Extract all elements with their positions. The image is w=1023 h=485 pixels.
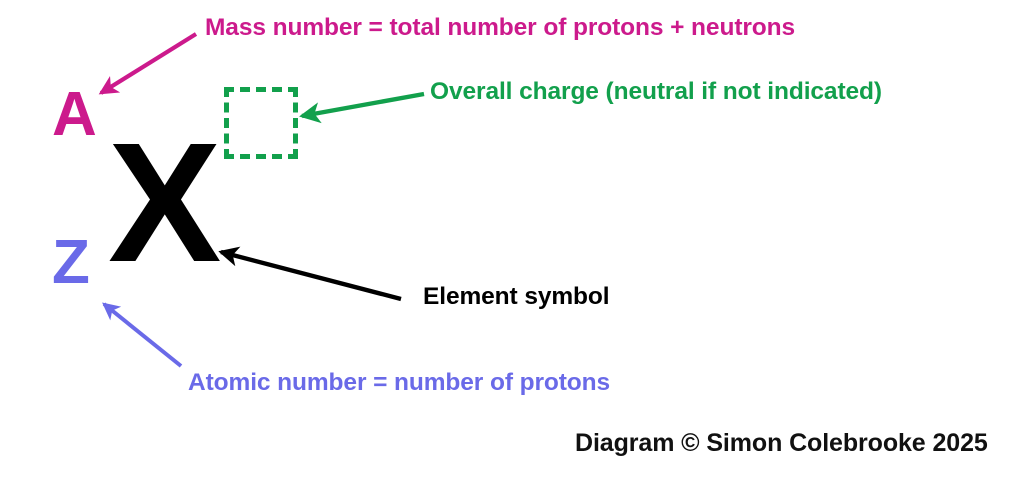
atomic-number-arrow (104, 304, 181, 366)
charge-placeholder-box (224, 87, 298, 159)
diagram-canvas: A Z X Mass number = total number of prot… (0, 0, 1023, 485)
atomic-number-label: Atomic number = number of protons (188, 371, 610, 396)
element-symbol-glyph: X (108, 118, 219, 288)
mass-number-label: Mass number = total number of protons + … (205, 16, 795, 41)
mass-number-arrow (101, 34, 196, 93)
element-symbol-label: Element symbol (423, 285, 610, 310)
credit-line: Diagram © Simon Colebrooke 2025 (575, 431, 988, 456)
overall-charge-arrow (302, 94, 424, 116)
atomic-number-symbol: Z (52, 232, 90, 294)
overall-charge-label: Overall charge (neutral if not indicated… (430, 80, 882, 105)
element-symbol-arrow (221, 252, 401, 299)
mass-number-symbol: A (52, 84, 97, 146)
